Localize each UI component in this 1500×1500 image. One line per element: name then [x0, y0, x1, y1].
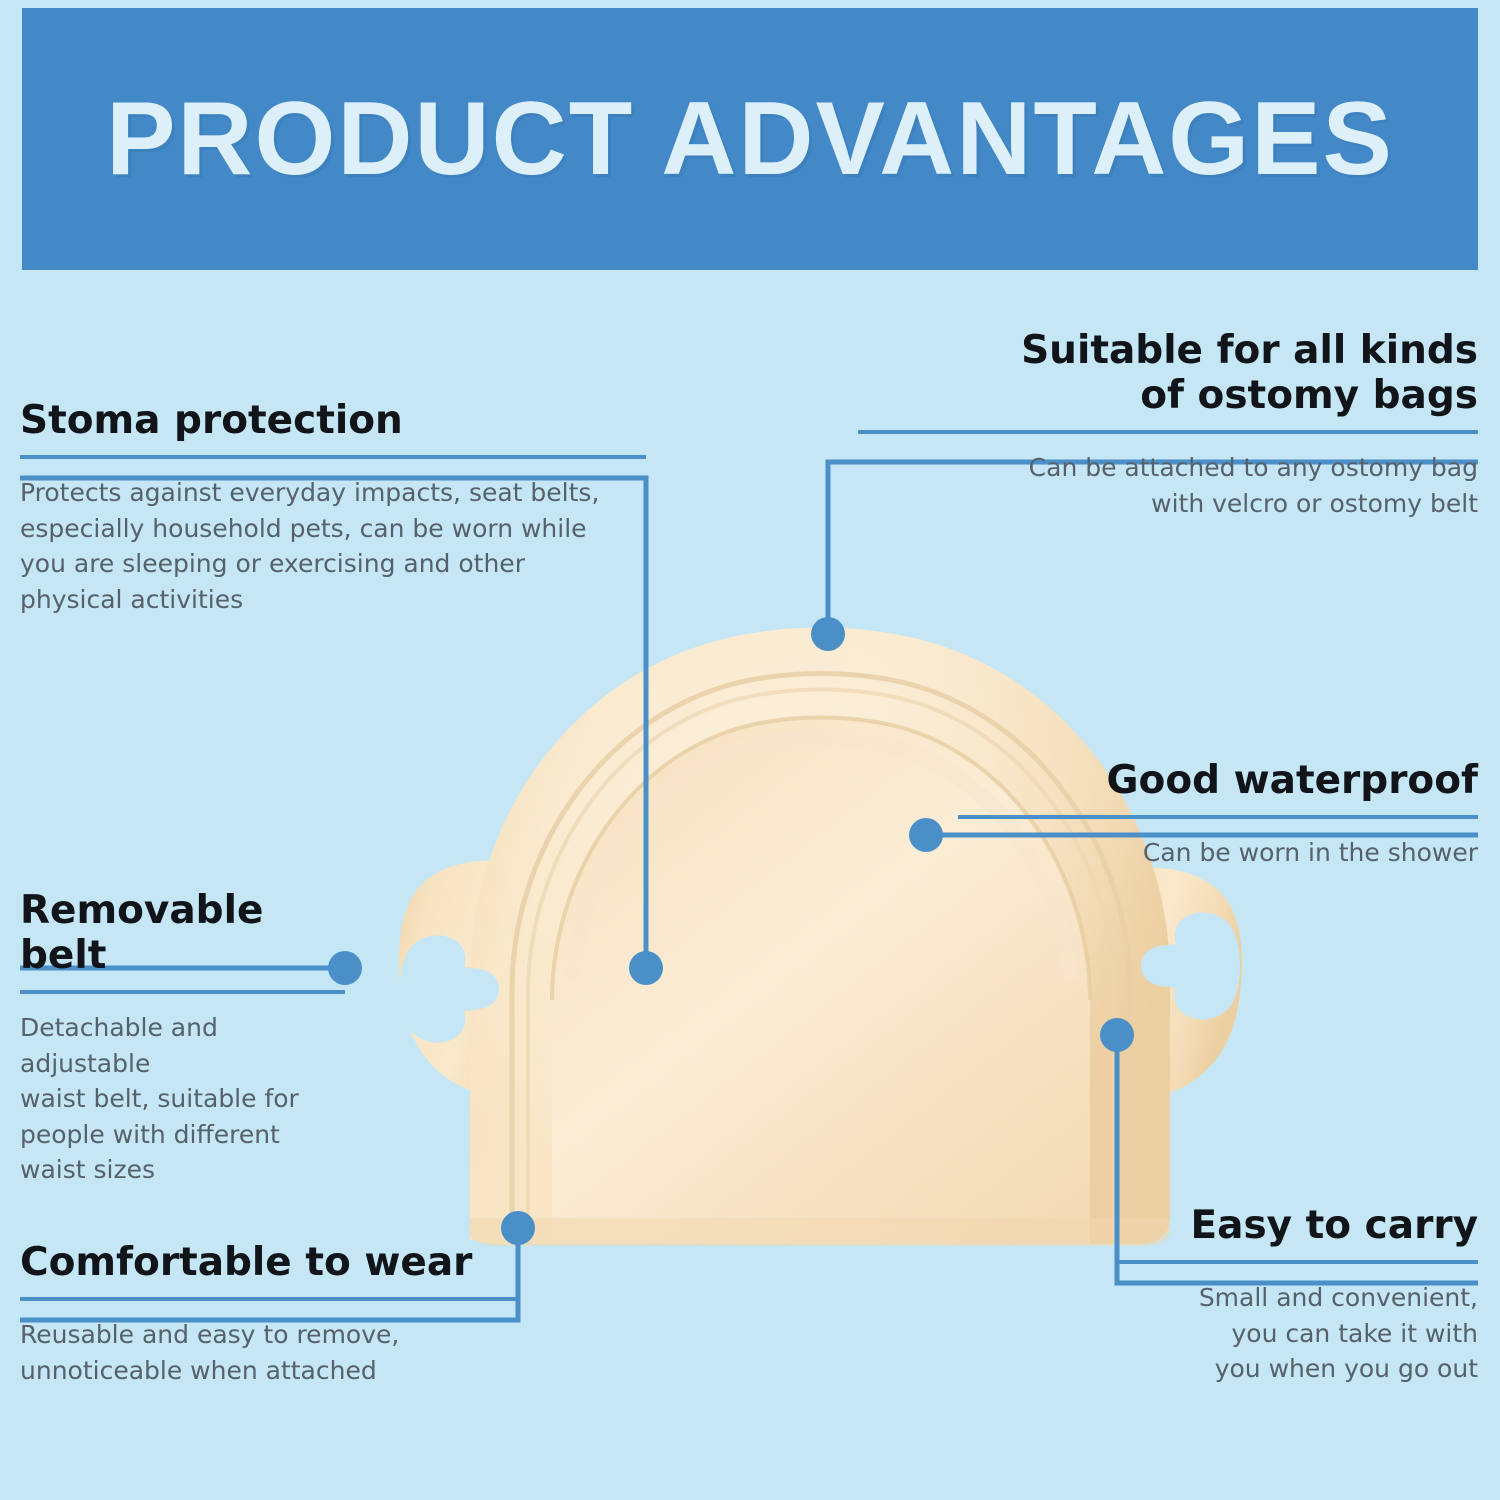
callout-suitable-for-all-kinds-of-ostomy-bags: Suitable for all kinds of ostomy bags Ca… [858, 328, 1478, 521]
callout-heading: Easy to carry [1117, 1203, 1478, 1248]
dot-stoma-protection [629, 951, 663, 985]
dot-good-waterproof [909, 818, 943, 852]
callout-heading: Suitable for all kinds of ostomy bags [858, 328, 1478, 418]
callout-body: Can be worn in the shower [958, 835, 1478, 871]
callout-heading: Comfortable to wear [20, 1240, 518, 1285]
callout-heading: Removable belt [20, 888, 345, 978]
infographic-canvas: PRODUCT ADVANTAGES [0, 0, 1500, 1500]
callout-body: Small and convenient, you can take it wi… [1117, 1280, 1478, 1387]
header-banner: PRODUCT ADVANTAGES [22, 8, 1478, 270]
callout-rule [1117, 1260, 1478, 1264]
callout-body: Protects against everyday impacts, seat … [20, 475, 646, 617]
callout-body: Reusable and easy to remove, unnoticeabl… [20, 1317, 518, 1388]
belt-slot-left [400, 935, 499, 1042]
callout-rule [20, 1297, 518, 1301]
callout-body: Detachable and adjustable waist belt, su… [20, 1010, 345, 1188]
callout-heading: Good waterproof [958, 758, 1478, 803]
belt-slot-right [1141, 912, 1240, 1019]
dot-suitable-for-all-kinds [811, 617, 845, 651]
callout-rule [20, 455, 646, 459]
callout-good-waterproof: Good waterproof Can be worn in the showe… [958, 758, 1478, 871]
page-title: PRODUCT ADVANTAGES [106, 87, 1394, 191]
callout-rule [858, 430, 1478, 434]
callout-heading: Stoma protection [20, 398, 646, 443]
callout-comfortable-to-wear: Comfortable to wear Reusable and easy to… [20, 1240, 518, 1388]
callout-body: Can be attached to any ostomy bag with v… [858, 450, 1478, 521]
dot-easy-to-carry [1100, 1018, 1134, 1052]
connector-dots [328, 617, 1134, 1245]
callout-removable-belt: Removable belt Detachable and adjustable… [20, 888, 345, 1188]
callout-stoma-protection: Stoma protection Protects against everyd… [20, 398, 646, 617]
callout-rule [958, 815, 1478, 819]
callout-easy-to-carry: Easy to carry Small and convenient, you … [1117, 1203, 1478, 1387]
product-body [399, 628, 1242, 1247]
callout-rule [20, 990, 345, 994]
